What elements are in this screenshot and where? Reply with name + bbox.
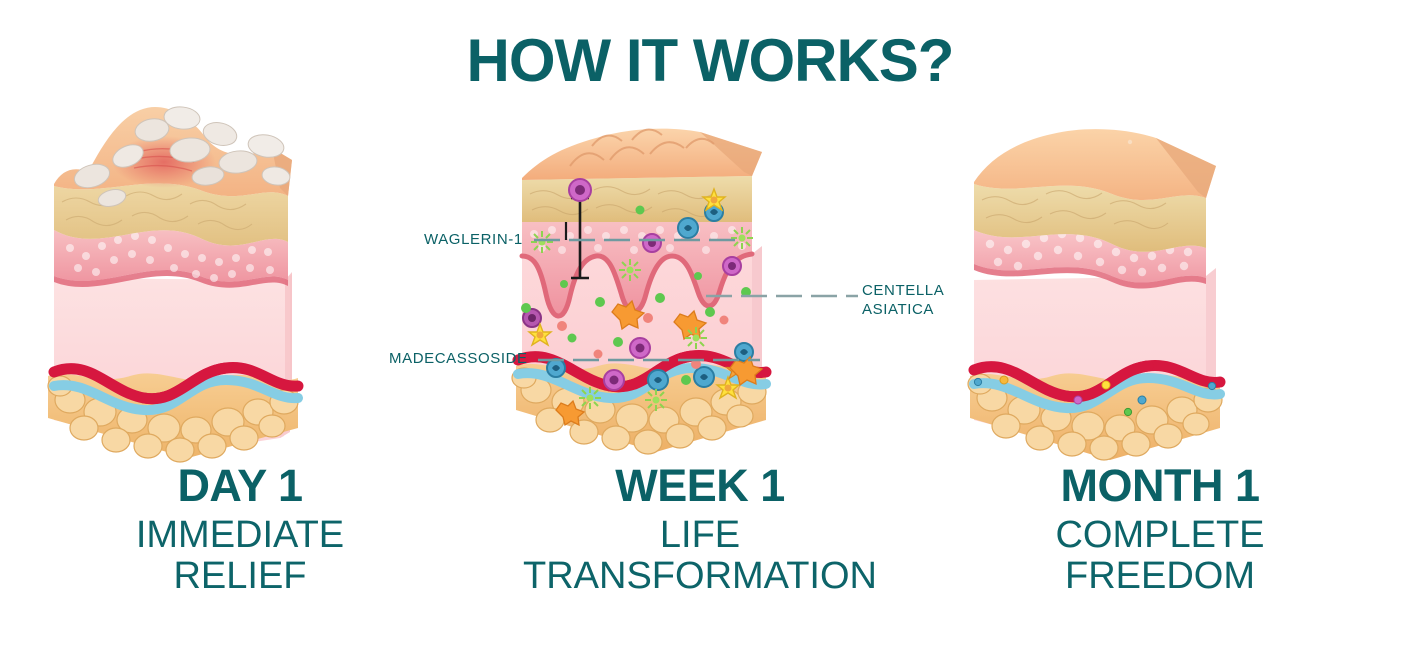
- pore-dot: [1128, 140, 1132, 144]
- caption-day1-sub-line2: RELIEF: [30, 556, 450, 597]
- infographic-canvas: HOW IT WORKS?: [0, 0, 1420, 655]
- waglerin-particle: [630, 338, 650, 358]
- skin-block-month1: [960, 80, 1380, 470]
- caption-week1-sub-line2: TRANSFORMATION: [490, 556, 910, 597]
- caption-day1-sub-line1: IMMEDIATE: [30, 515, 450, 556]
- caption-week1-sub-line1: LIFE: [490, 515, 910, 556]
- waglerin-particle: [569, 179, 591, 201]
- caption-week1-heading: WEEK 1: [490, 462, 910, 509]
- annotation-centella-line1: CENTELLA: [862, 282, 944, 301]
- annotation-madecassoside-label: MADECASSOSIDE: [389, 350, 528, 367]
- caption-month1-heading: MONTH 1: [950, 462, 1370, 509]
- caption-month1: MONTH 1 COMPLETE FREEDOM: [950, 462, 1370, 597]
- annotation-madecassoside: MADECASSOSIDE: [389, 350, 528, 369]
- waglerin-particle: [604, 370, 624, 390]
- annotation-waglerin-label: WAGLERIN-1: [424, 231, 523, 248]
- skin-block-week1: [500, 80, 920, 470]
- skin-block-day1: [40, 80, 460, 470]
- centella-particle: [648, 370, 668, 390]
- caption-day1: DAY 1 IMMEDIATE RELIEF: [30, 462, 450, 597]
- annotation-centella-line2: ASIATICA: [862, 301, 944, 320]
- caption-month1-sub-line1: COMPLETE: [950, 515, 1370, 556]
- centella-particle: [694, 367, 714, 387]
- centella-particle: [547, 359, 565, 377]
- waglerin-particle: [723, 257, 741, 275]
- annotation-waglerin: WAGLERIN-1: [424, 231, 523, 250]
- annotation-centella: CENTELLA ASIATICA: [862, 282, 944, 320]
- centella-particle: [678, 218, 698, 238]
- caption-month1-sub-line2: FREEDOM: [950, 556, 1370, 597]
- caption-week1: WEEK 1 LIFE TRANSFORMATION: [490, 462, 910, 597]
- waglerin-particle: [643, 234, 661, 252]
- caption-day1-heading: DAY 1: [30, 462, 450, 509]
